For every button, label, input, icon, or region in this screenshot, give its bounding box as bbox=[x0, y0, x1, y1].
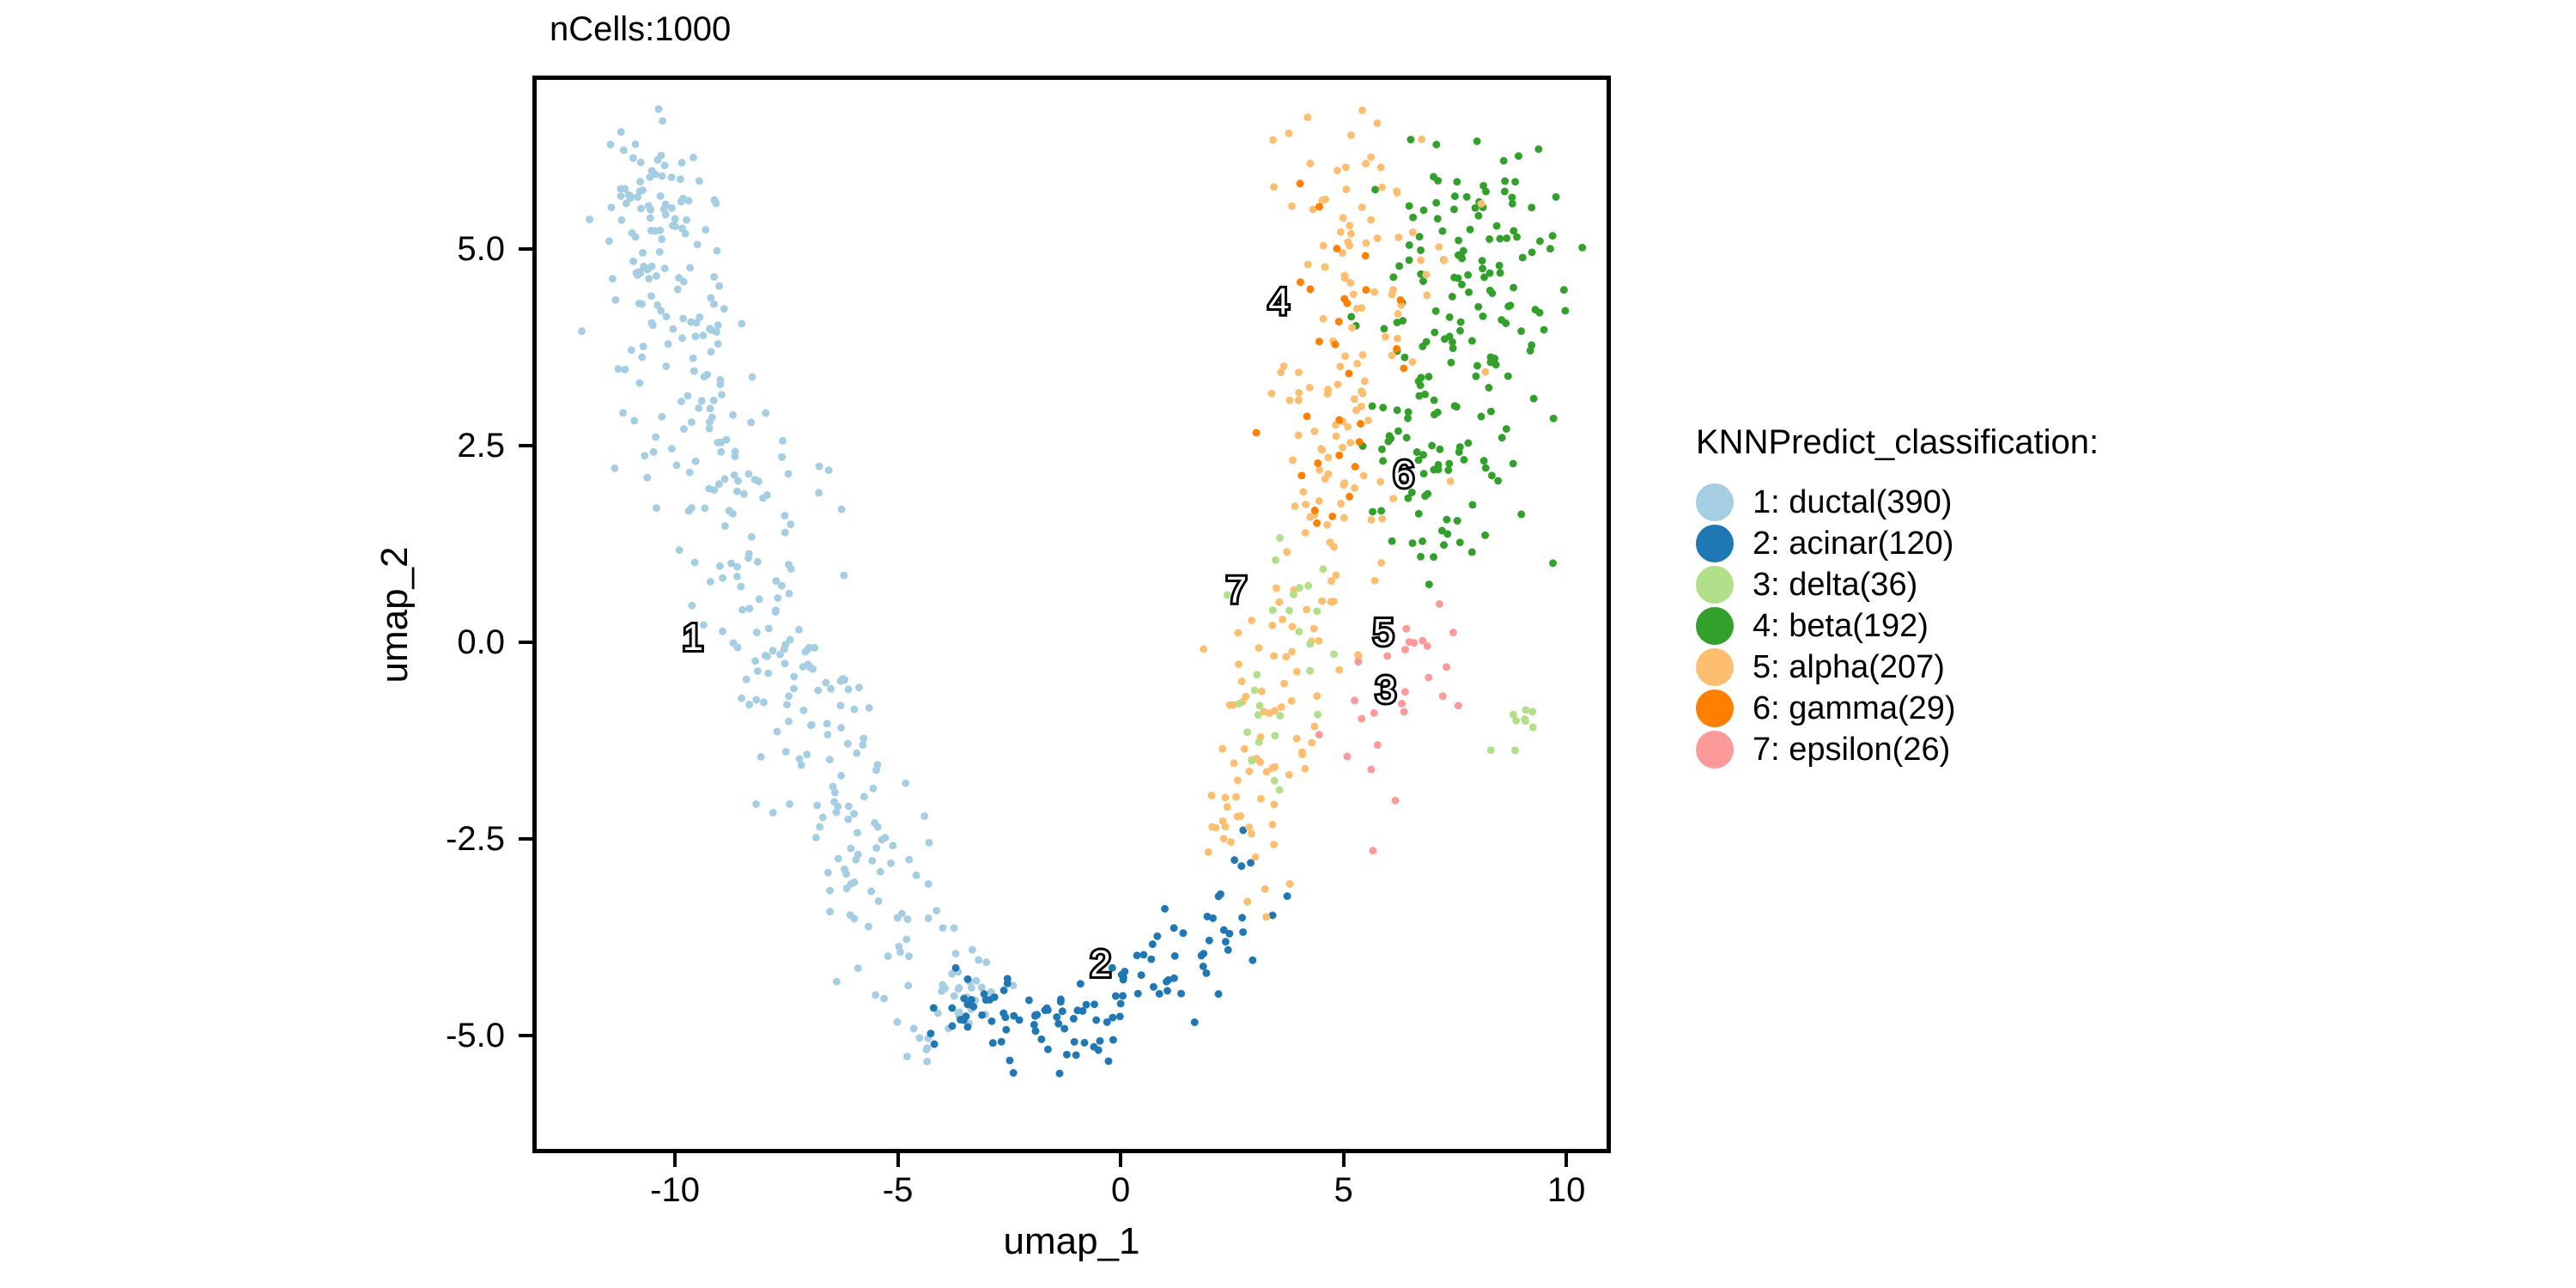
x-tick-mark bbox=[1564, 1153, 1568, 1167]
legend-item-label: 6: gamma(29) bbox=[1753, 692, 1956, 725]
legend-entries: 1: ductal(390)2: acinar(120)3: delta(36)… bbox=[1696, 482, 2099, 770]
umap-plot-figure: nCells:1000 1234567 -10-50510 5.02.50.0-… bbox=[0, 0, 2576, 1288]
plot-panel bbox=[532, 76, 1611, 1153]
legend-item-ductal[interactable]: 1: ductal(390) bbox=[1696, 482, 2099, 523]
legend-item-alpha[interactable]: 5: alpha(207) bbox=[1696, 647, 2099, 688]
point-group-epsilon bbox=[1315, 600, 1462, 854]
y-tick-label: -2.5 bbox=[446, 822, 505, 856]
point-group-delta bbox=[1224, 534, 1537, 793]
legend-item-label: 5: alpha(207) bbox=[1753, 651, 1945, 683]
x-tick-mark bbox=[896, 1153, 900, 1167]
legend-swatch-icon bbox=[1696, 483, 1734, 521]
x-tick-mark bbox=[673, 1153, 677, 1167]
y-tick-label: 2.5 bbox=[457, 428, 505, 463]
point-group-acinar bbox=[927, 826, 1291, 1077]
legend-item-label: 2: acinar(120) bbox=[1753, 527, 1953, 560]
y-tick-label: 0.0 bbox=[457, 625, 505, 659]
legend-swatch-icon bbox=[1696, 690, 1734, 727]
legend-swatch-icon bbox=[1696, 566, 1734, 604]
legend-item-beta[interactable]: 4: beta(192) bbox=[1696, 605, 2099, 647]
legend-item-label: 7: epsilon(26) bbox=[1753, 733, 1950, 766]
legend-title: KNNPredict_classification: bbox=[1696, 425, 2099, 459]
y-tick-mark bbox=[519, 247, 532, 251]
point-group-ductal bbox=[578, 106, 1017, 1066]
legend-item-label: 4: beta(192) bbox=[1753, 610, 1929, 642]
page-title: nCells:1000 bbox=[550, 12, 731, 46]
legend-swatch-icon bbox=[1696, 648, 1734, 686]
scatter-points-layer bbox=[537, 80, 1607, 1149]
x-tick-label: -5 bbox=[883, 1173, 914, 1207]
legend-swatch-icon bbox=[1696, 525, 1734, 562]
legend-item-acinar[interactable]: 2: acinar(120) bbox=[1696, 523, 2099, 564]
legend-item-epsilon[interactable]: 7: epsilon(26) bbox=[1696, 729, 2099, 770]
point-group-alpha bbox=[1200, 106, 1489, 920]
legend-item-delta[interactable]: 3: delta(36) bbox=[1696, 564, 2099, 605]
legend-item-gamma[interactable]: 6: gamma(29) bbox=[1696, 688, 2099, 729]
x-tick-label: 0 bbox=[1111, 1173, 1130, 1207]
x-tick-label: -10 bbox=[650, 1173, 700, 1207]
x-tick-label: 10 bbox=[1547, 1173, 1586, 1207]
legend-item-label: 1: ductal(390) bbox=[1753, 486, 1952, 519]
y-tick-mark bbox=[519, 1034, 532, 1037]
y-axis-title: umap_2 bbox=[376, 546, 414, 683]
y-tick-mark bbox=[519, 641, 532, 644]
y-tick-label: 5.0 bbox=[457, 232, 505, 266]
x-tick-mark bbox=[1119, 1153, 1122, 1167]
x-tick-mark bbox=[1342, 1153, 1346, 1167]
legend-item-label: 3: delta(36) bbox=[1753, 568, 1917, 601]
x-tick-label: 5 bbox=[1334, 1173, 1352, 1207]
x-axis-title: umap_1 bbox=[1003, 1223, 1139, 1261]
y-tick-label: -5.0 bbox=[446, 1018, 505, 1053]
legend: KNNPredict_classification: 1: ductal(390… bbox=[1696, 425, 2099, 770]
legend-swatch-icon bbox=[1696, 607, 1734, 645]
legend-swatch-icon bbox=[1696, 731, 1734, 769]
y-tick-mark bbox=[519, 444, 532, 447]
y-tick-mark bbox=[519, 837, 532, 841]
